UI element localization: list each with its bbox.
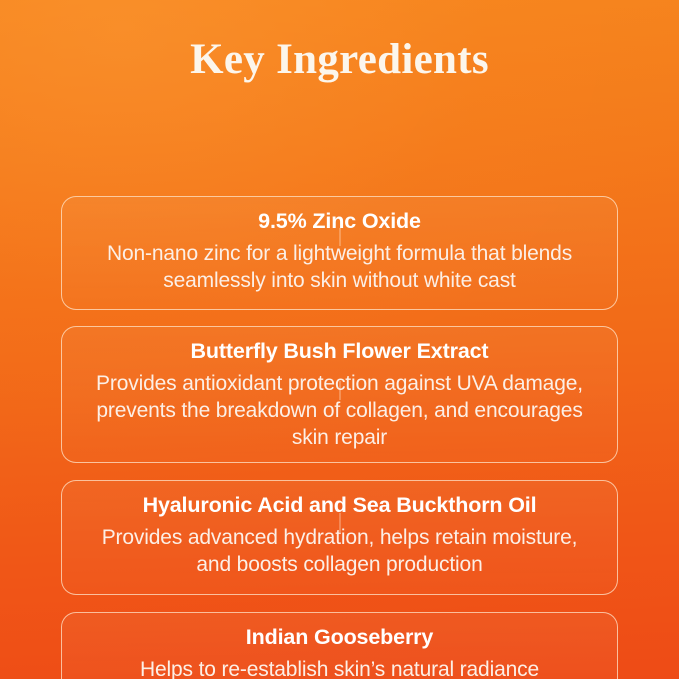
page-title: Key Ingredients <box>0 0 679 81</box>
ingredient-card: 9.5% Zinc Oxide Non-nano zinc for a ligh… <box>61 196 618 310</box>
ingredient-card-description: Helps to re-establish skin’s natural rad… <box>88 656 591 679</box>
ingredient-card: Butterfly Bush Flower Extract Provides a… <box>61 326 618 463</box>
ingredient-card-description: Provides advanced hydration, helps retai… <box>88 524 591 579</box>
ingredient-card-title: Butterfly Bush Flower Extract <box>88 338 591 366</box>
ingredient-card-title: Indian Gooseberry <box>88 624 591 652</box>
key-ingredients-poster: Key Ingredients 9.5% Zinc Oxide Non-nano… <box>0 0 679 679</box>
ingredient-card-title: 9.5% Zinc Oxide <box>88 208 591 236</box>
ingredient-card: Hyaluronic Acid and Sea Buckthorn Oil Pr… <box>61 480 618 595</box>
ingredient-card: Indian Gooseberry Helps to re-establish … <box>61 612 618 679</box>
ingredient-card-title: Hyaluronic Acid and Sea Buckthorn Oil <box>88 492 591 520</box>
ingredient-card-description: Non-nano zinc for a lightweight formula … <box>88 240 591 295</box>
ingredient-card-description: Provides antioxidant protection against … <box>88 370 591 452</box>
